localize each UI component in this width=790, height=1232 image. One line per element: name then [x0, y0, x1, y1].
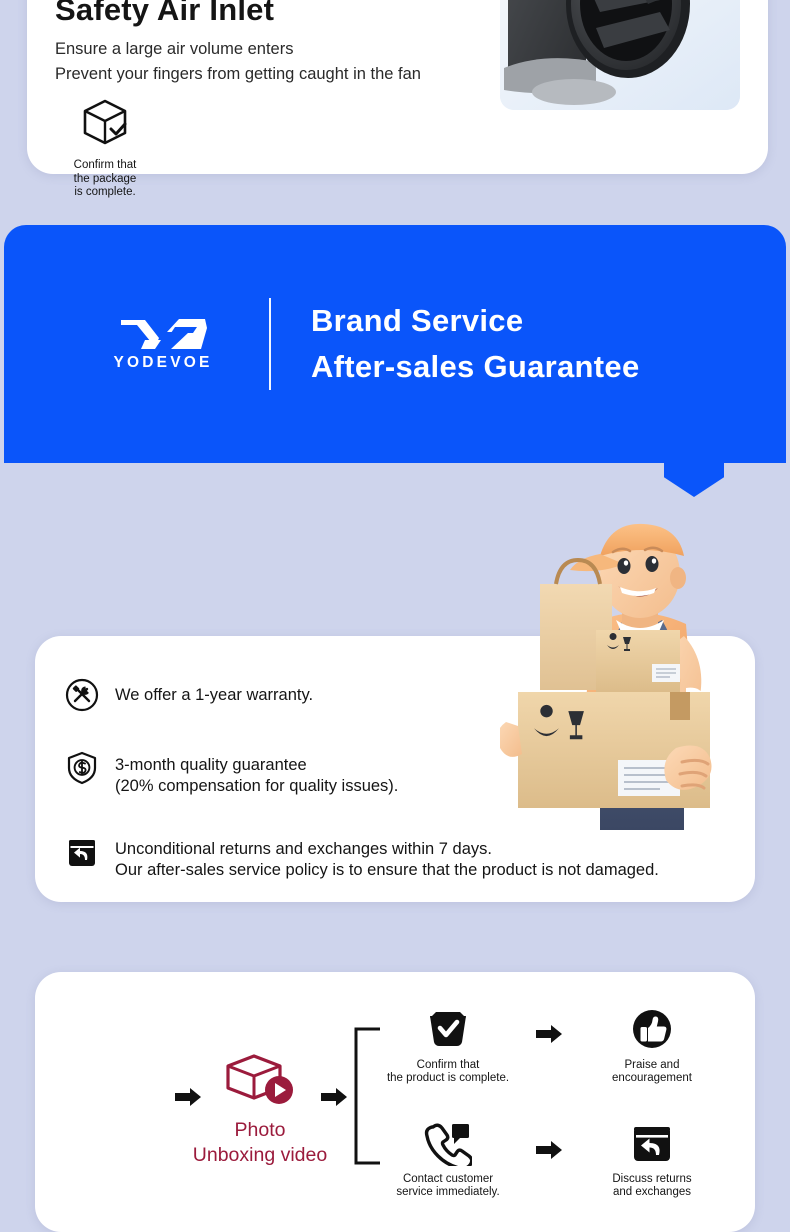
flow-step-unboxing-label: Unboxing video: [182, 1142, 338, 1168]
box-check-outline-icon: [78, 96, 132, 150]
brand-wordmark: YODEVOE: [113, 354, 212, 372]
flow-result-caption-line-2: and exchanges: [596, 1186, 708, 1199]
service-list: We offer a 1-year warranty. 3-month qual…: [65, 678, 765, 880]
service-item-line-2: Our after-sales service policy is to ens…: [115, 860, 659, 881]
basket-check-icon: [424, 1008, 472, 1052]
flow-split-bracket: [352, 1027, 382, 1165]
flow-step-photo-video: Photo Unboxing video: [182, 1052, 338, 1168]
arrow-right-4-icon: [535, 1140, 563, 1160]
after-sales-service-card: We offer a 1-year warranty. 3-month qual…: [35, 636, 755, 902]
flow-result-returns: Discuss returns and exchanges: [596, 1122, 708, 1199]
flow-result-caption-line-1: Praise and: [596, 1059, 708, 1072]
flow-branch-caption: Contact customer service immediately.: [385, 1173, 511, 1199]
thumbs-up-icon: [628, 1008, 676, 1052]
service-item-line-1: Unconditional returns and exchanges with…: [115, 839, 659, 860]
return-box-icon: [65, 835, 99, 869]
flow-step-caption-line-3: is complete.: [60, 186, 150, 200]
flow-branch-caption-line-2: the product is complete.: [385, 1072, 511, 1085]
flow-result-caption: Discuss returns and exchanges: [596, 1173, 708, 1199]
product-image: M02: [500, 0, 740, 110]
service-item-warranty: We offer a 1-year warranty.: [65, 678, 765, 712]
flow-branch-caption-line-1: Confirm that: [385, 1059, 511, 1072]
flow-branch-caption-line-2: service immediately.: [385, 1186, 511, 1199]
banner-heading-line-2: After-sales Guarantee: [311, 349, 640, 385]
flow-branch-caption-line-1: Contact customer: [385, 1173, 511, 1186]
box-play-video-icon: [224, 1052, 296, 1110]
service-item-text: 3-month quality guarantee (20% compensat…: [115, 751, 398, 796]
flow-branch-caption: Confirm that the product is complete.: [385, 1059, 511, 1085]
service-item-line-1: We offer a 1-year warranty.: [115, 686, 313, 704]
flow-step-confirm-package: Confirm that the package is complete.: [60, 96, 150, 200]
brand-logo: YODEVOE: [109, 316, 217, 372]
product-bullets: Ensure a large air volume enters Prevent…: [55, 37, 421, 87]
tools-circle-icon: [65, 678, 99, 712]
banner-heading: Brand Service After-sales Guarantee: [311, 303, 640, 385]
service-item-text: We offer a 1-year warranty.: [115, 678, 313, 706]
vertical-divider: [269, 298, 271, 390]
service-item-line-2: (20% compensation for quality issues).: [115, 776, 398, 797]
flow-step-photo-label: Photo: [182, 1118, 338, 1142]
flow-step-caption-line-1: Confirm that: [60, 159, 150, 173]
phone-chat-icon: [424, 1122, 472, 1166]
arrow-right-2-icon: [320, 1087, 348, 1107]
flow-step-caption-line-2: the package: [60, 173, 150, 187]
service-item-line-1: 3-month quality guarantee: [115, 755, 398, 776]
service-item-quality-guarantee: 3-month quality guarantee (20% compensat…: [65, 751, 765, 796]
flow-result-praise: Praise and encouragement: [596, 1008, 708, 1085]
service-item-returns: Unconditional returns and exchanges with…: [65, 835, 765, 880]
page-title: Safety Air Inlet: [55, 0, 274, 28]
flow-branch-confirm-product: Confirm that the product is complete.: [385, 1008, 511, 1085]
flow-branch-contact-service: Contact customer service immediately.: [385, 1122, 511, 1199]
flow-result-caption-line-1: Discuss returns: [596, 1173, 708, 1186]
service-item-text: Unconditional returns and exchanges with…: [115, 835, 659, 880]
arrow-right-3-icon: [535, 1024, 563, 1044]
shield-dollar-icon: [65, 751, 99, 785]
product-bullet-1: Ensure a large air volume enters: [55, 37, 421, 62]
flow-result-caption-line-2: encouragement: [596, 1072, 708, 1085]
flow-result-caption: Praise and encouragement: [596, 1059, 708, 1085]
banner-pointer-notch: [664, 463, 724, 497]
product-bullet-2: Prevent your fingers from getting caught…: [55, 62, 421, 87]
banner-heading-line-1: Brand Service: [311, 303, 640, 339]
brand-service-banner: YODEVOE Brand Service After-sales Guaran…: [4, 225, 786, 463]
y-emblem-icon: [115, 316, 211, 352]
flow-step-caption: Confirm that the package is complete.: [60, 159, 150, 200]
return-box-icon: [628, 1122, 676, 1166]
